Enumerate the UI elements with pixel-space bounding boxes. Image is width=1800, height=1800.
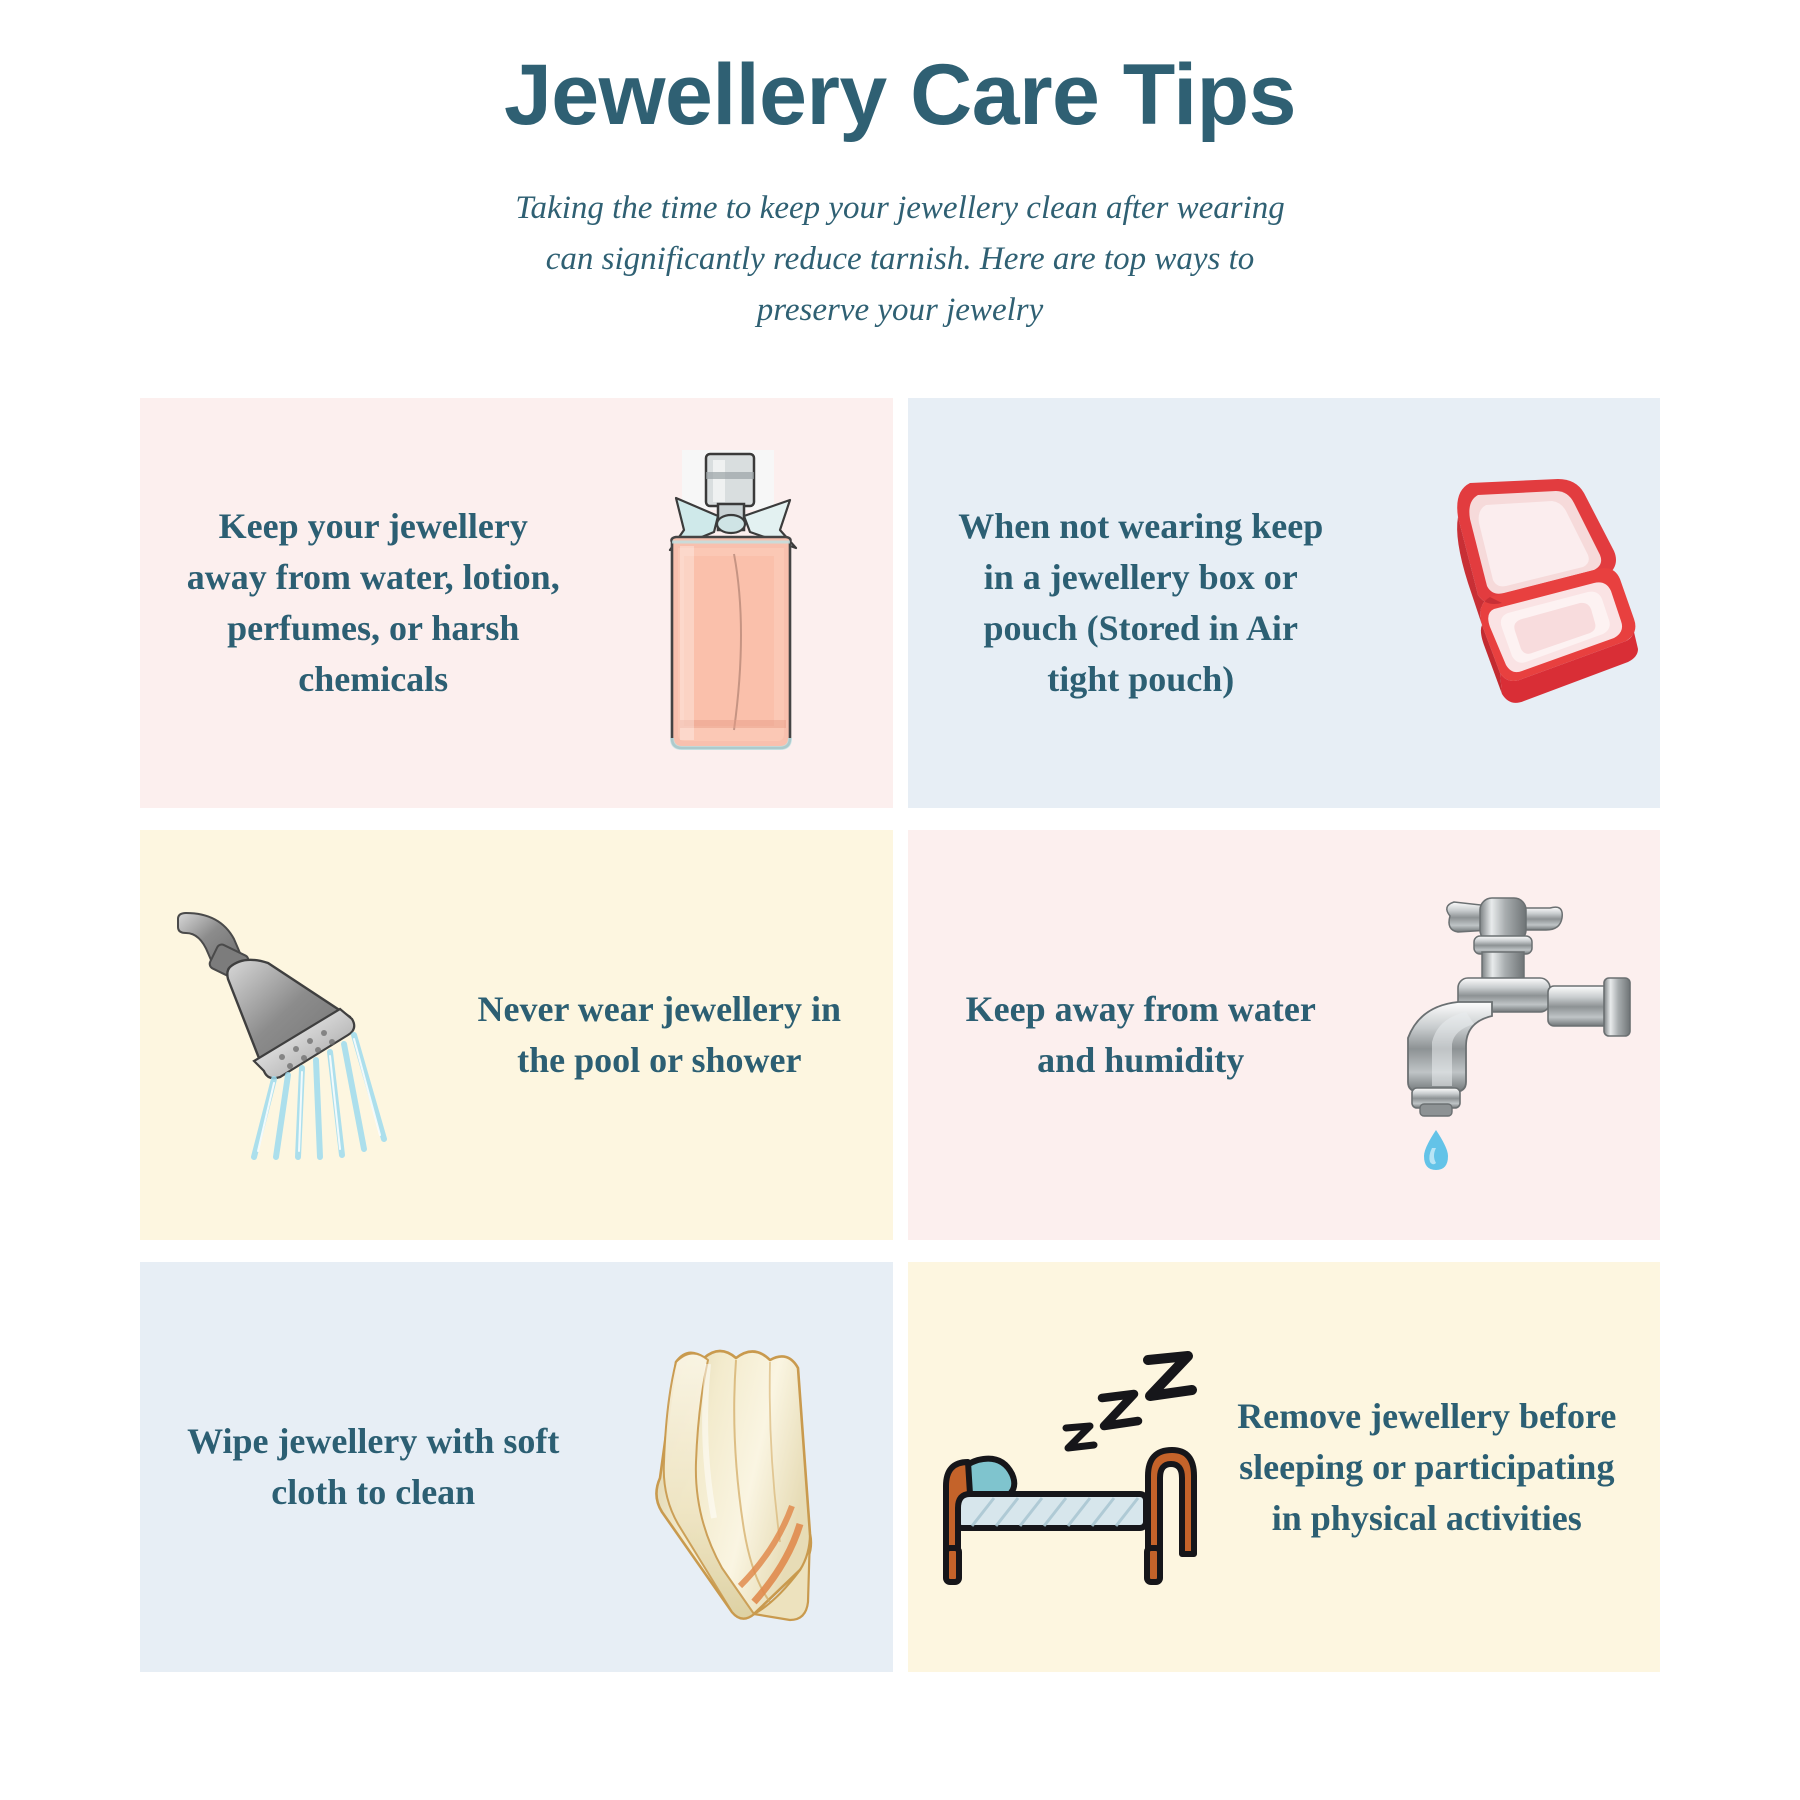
card-chemicals-label: Keep your jewellery away from water, lot… bbox=[140, 501, 576, 705]
card-wipe-label: Wipe jewellery with soft cloth to clean bbox=[140, 1416, 576, 1518]
card-sleep: Remove jewellery before sleeping or part… bbox=[908, 1262, 1661, 1672]
infographic-page: Jewellery Care Tips Taking the time to k… bbox=[0, 0, 1800, 1800]
jewellery-box-icon bbox=[1344, 398, 1660, 808]
shower-head-icon bbox=[140, 830, 456, 1240]
card-humidity-label: Keep away from water and humidity bbox=[908, 984, 1344, 1086]
perfume-bottle-icon bbox=[576, 398, 892, 808]
card-wipe: Wipe jewellery with soft cloth to clean bbox=[140, 1262, 893, 1672]
bed-sleeping-icon bbox=[908, 1262, 1224, 1672]
faucet-icon bbox=[1344, 830, 1660, 1240]
card-sleep-label: Remove jewellery before sleeping or part… bbox=[1224, 1391, 1660, 1544]
card-shower: Never wear jewellery in the pool or show… bbox=[140, 830, 893, 1240]
card-storage-label: When not wearing keep in a jewellery box… bbox=[908, 501, 1344, 705]
card-shower-label: Never wear jewellery in the pool or show… bbox=[456, 984, 892, 1086]
page-title: Jewellery Care Tips bbox=[0, 46, 1800, 145]
header: Jewellery Care Tips Taking the time to k… bbox=[0, 46, 1800, 336]
card-humidity: Keep away from water and humidity bbox=[908, 830, 1661, 1240]
card-storage: When not wearing keep in a jewellery box… bbox=[908, 398, 1661, 808]
cloth-icon bbox=[576, 1262, 892, 1672]
tips-grid: Keep your jewellery away from water, lot… bbox=[140, 398, 1660, 1672]
page-subtitle: Taking the time to keep your jewellery c… bbox=[500, 183, 1300, 336]
card-chemicals: Keep your jewellery away from water, lot… bbox=[140, 398, 893, 808]
